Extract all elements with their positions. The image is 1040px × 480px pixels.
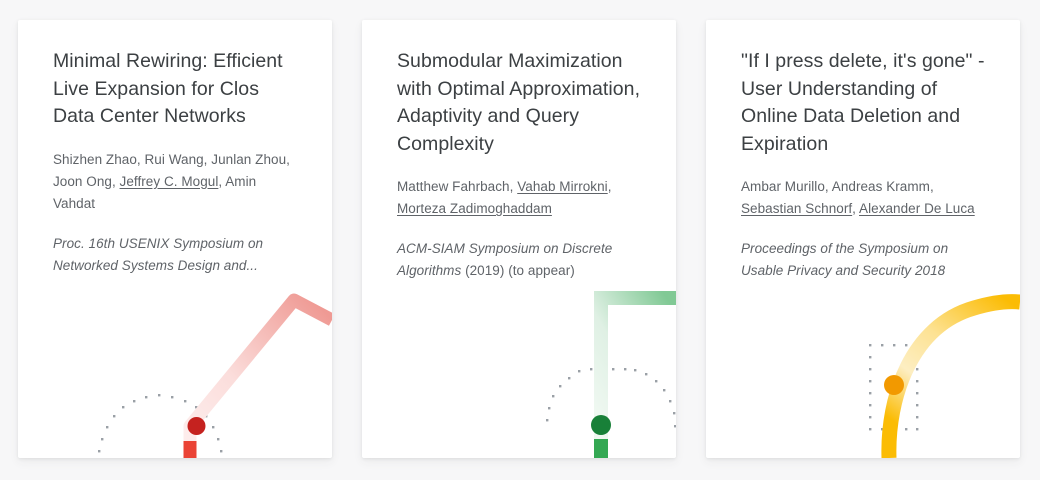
publication-title[interactable]: Minimal Rewiring: Efficient Live Expansi…	[53, 48, 300, 131]
green-marker-dot	[591, 415, 611, 435]
dotted-arc-guide	[546, 368, 676, 427]
author-link[interactable]: Sebastian Schnorf	[741, 201, 852, 216]
venue-text: Proc. 16th USENIX Symposium on Networked…	[53, 236, 263, 273]
green-marker-stem	[594, 439, 608, 458]
red-marker-dot	[188, 417, 206, 435]
publication-authors: Ambar Murillo, Andreas Kramm, Sebastian …	[741, 176, 988, 220]
author-link-secondary[interactable]: Alexander De Luca	[859, 201, 975, 216]
publication-authors: Shizhen Zhao, Rui Wang, Junlan Zhou, Joo…	[53, 149, 300, 215]
venue-extra-text: (2019) (to appear)	[465, 263, 575, 278]
yellow-arc-path-graphic	[706, 278, 1020, 458]
publication-card[interactable]: Minimal Rewiring: Efficient Live Expansi…	[18, 20, 332, 458]
publication-venue: Proc. 16th USENIX Symposium on Networked…	[53, 233, 300, 277]
publication-card-body: Minimal Rewiring: Efficient Live Expansi…	[18, 20, 332, 277]
author-link[interactable]: Vahab Mirrokni	[517, 179, 608, 194]
publication-title[interactable]: Submodular Maximization with Optimal App…	[397, 48, 644, 158]
green-trail-path	[601, 298, 676, 458]
publication-card-grid: Minimal Rewiring: Efficient Live Expansi…	[0, 0, 1040, 480]
publication-authors: Matthew Fahrbach, Vahab Mirrokni, Mortez…	[397, 176, 644, 220]
yellow-trail-path	[889, 302, 1020, 458]
dotted-arc-guide	[98, 394, 222, 452]
author-link[interactable]: Jeffrey C. Mogul	[120, 174, 219, 189]
publication-card-body: Submodular Maximization with Optimal App…	[362, 20, 676, 282]
red-peak-path-graphic	[18, 278, 332, 458]
publication-card[interactable]: Submodular Maximization with Optimal App…	[362, 20, 676, 458]
authors-prefix-text: Ambar Murillo, Andreas Kramm,	[741, 179, 934, 194]
red-trail-path	[190, 300, 332, 458]
authors-suffix-text: ,	[608, 179, 612, 194]
orange-marker-dot	[884, 375, 904, 395]
publication-venue: ACM-SIAM Symposium on Discrete Algorithm…	[397, 238, 644, 282]
publication-venue: Proceedings of the Symposium on Usable P…	[741, 238, 988, 282]
venue-text: Proceedings of the Symposium on Usable P…	[741, 241, 948, 278]
author-link-secondary[interactable]: Morteza Zadimoghaddam	[397, 201, 552, 216]
red-marker-stem	[184, 441, 197, 458]
green-right-angle-path-graphic	[362, 278, 676, 458]
publication-title[interactable]: "If I press delete, it's gone" - User Un…	[741, 48, 988, 158]
authors-prefix-text: Matthew Fahrbach,	[397, 179, 517, 194]
publication-card-body: "If I press delete, it's gone" - User Un…	[706, 20, 1020, 282]
authors-suffix-text: ,	[852, 201, 859, 216]
dotted-rectangle-guide	[869, 344, 918, 430]
publication-card[interactable]: "If I press delete, it's gone" - User Un…	[706, 20, 1020, 458]
